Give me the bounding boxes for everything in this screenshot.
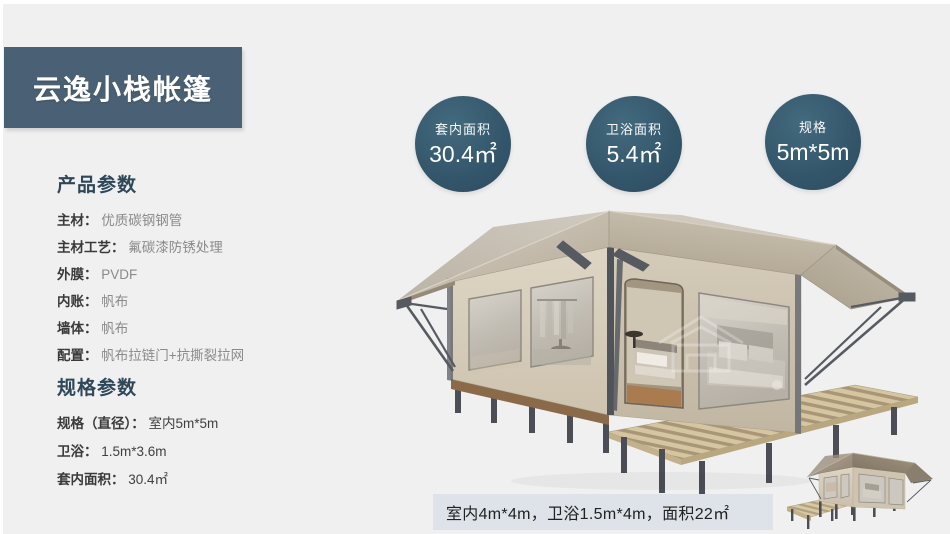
page-canvas: 云逸小栈帐篷 产品参数 主材： 优质碳钢钢管 主材工艺： 氟碳漆防锈处理 外膜：… [3,4,950,534]
stat-badge-label: 卫浴面积 [606,121,662,139]
param-value: 帆布 [101,294,128,309]
param-row: 卫浴： 1.5m*3.6m [57,438,357,466]
specification-parameters-section: 规格参数 规格（直径）： 室内5m*5m 卫浴： 1.5m*3.6m 套内面积：… [57,373,357,494]
param-value: 室内5m*5m [149,416,219,431]
inset-window-right-2 [889,478,903,505]
param-label: 内账： [57,294,98,309]
image-caption-text: 室内4m*4m，卫浴1.5m*4m，面积22㎡ [446,500,729,524]
param-label: 主材工艺： [57,240,125,255]
param-label: 规格（直径）： [57,416,145,431]
param-label: 卫浴： [57,444,98,459]
param-label: 套内面积： [57,472,125,487]
param-row: 主材： 优质碳钢钢管 [57,207,357,234]
param-value: 30.4㎡ [128,472,168,487]
param-value: 1.5m*3.6m [101,444,166,459]
param-label: 配置： [57,348,98,363]
stat-badge-dimensions: 规格 5m*5m [765,94,861,190]
param-label: 主材： [57,213,98,228]
param-row: 内账： 帆布 [57,288,357,315]
param-value: 帆布 [101,321,128,336]
image-caption-bar: 室内4m*4m，卫浴1.5m*4m，面积22㎡ [433,494,773,530]
param-row: 规格（直径）： 室内5m*5m [57,410,357,438]
specification-parameters-heading: 规格参数 [57,373,357,400]
ground-shadow [511,472,811,490]
product-parameters-section: 产品参数 主材： 优质碳钢钢管 主材工艺： 氟碳漆防锈处理 外膜： PVDF 内… [57,170,357,369]
param-row: 套内面积： 30.4㎡ [57,466,357,494]
param-label: 墙体： [57,321,98,336]
param-row: 主材工艺： 氟碳漆防锈处理 [57,234,357,261]
param-value: PVDF [101,267,137,282]
door-opening-group [625,279,683,408]
inset-window-left-2 [841,474,849,498]
stat-badge-value: 5.4㎡ [607,140,662,168]
param-row: 配置： 帆布拉链门+抗撕裂拉网 [57,342,357,369]
tent-render-inset [781,447,949,534]
product-parameters-heading: 产品参数 [57,170,357,197]
param-value: 氟碳漆防锈处理 [128,240,223,255]
stat-badge-bathroom-area: 卫浴面积 5.4㎡ [586,96,682,192]
param-value: 帆布拉链门+抗撕裂拉网 [101,348,244,363]
stat-badge-value: 5m*5m [777,138,850,166]
window-right-group [699,293,789,409]
stat-badge-value: 30.4㎡ [429,140,497,168]
param-row: 墙体： 帆布 [57,315,357,342]
stat-badge-label: 套内面积 [435,121,491,139]
page-title: 云逸小栈帐篷 [33,68,213,108]
interior-bed-door [633,339,677,381]
product-title-banner: 云逸小栈帐篷 [4,47,242,128]
stat-badge-interior-area: 套内面积 30.4㎡ [415,96,511,192]
param-value: 优质碳钢钢管 [101,213,182,228]
param-label: 外膜： [57,267,98,282]
stat-badge-label: 规格 [799,119,827,137]
param-row: 外膜： PVDF [57,261,357,288]
spec-sheet-page: 云逸小栈帐篷 产品参数 主材： 优质碳钢钢管 主材工艺： 氟碳漆防锈处理 外膜：… [0,0,950,534]
